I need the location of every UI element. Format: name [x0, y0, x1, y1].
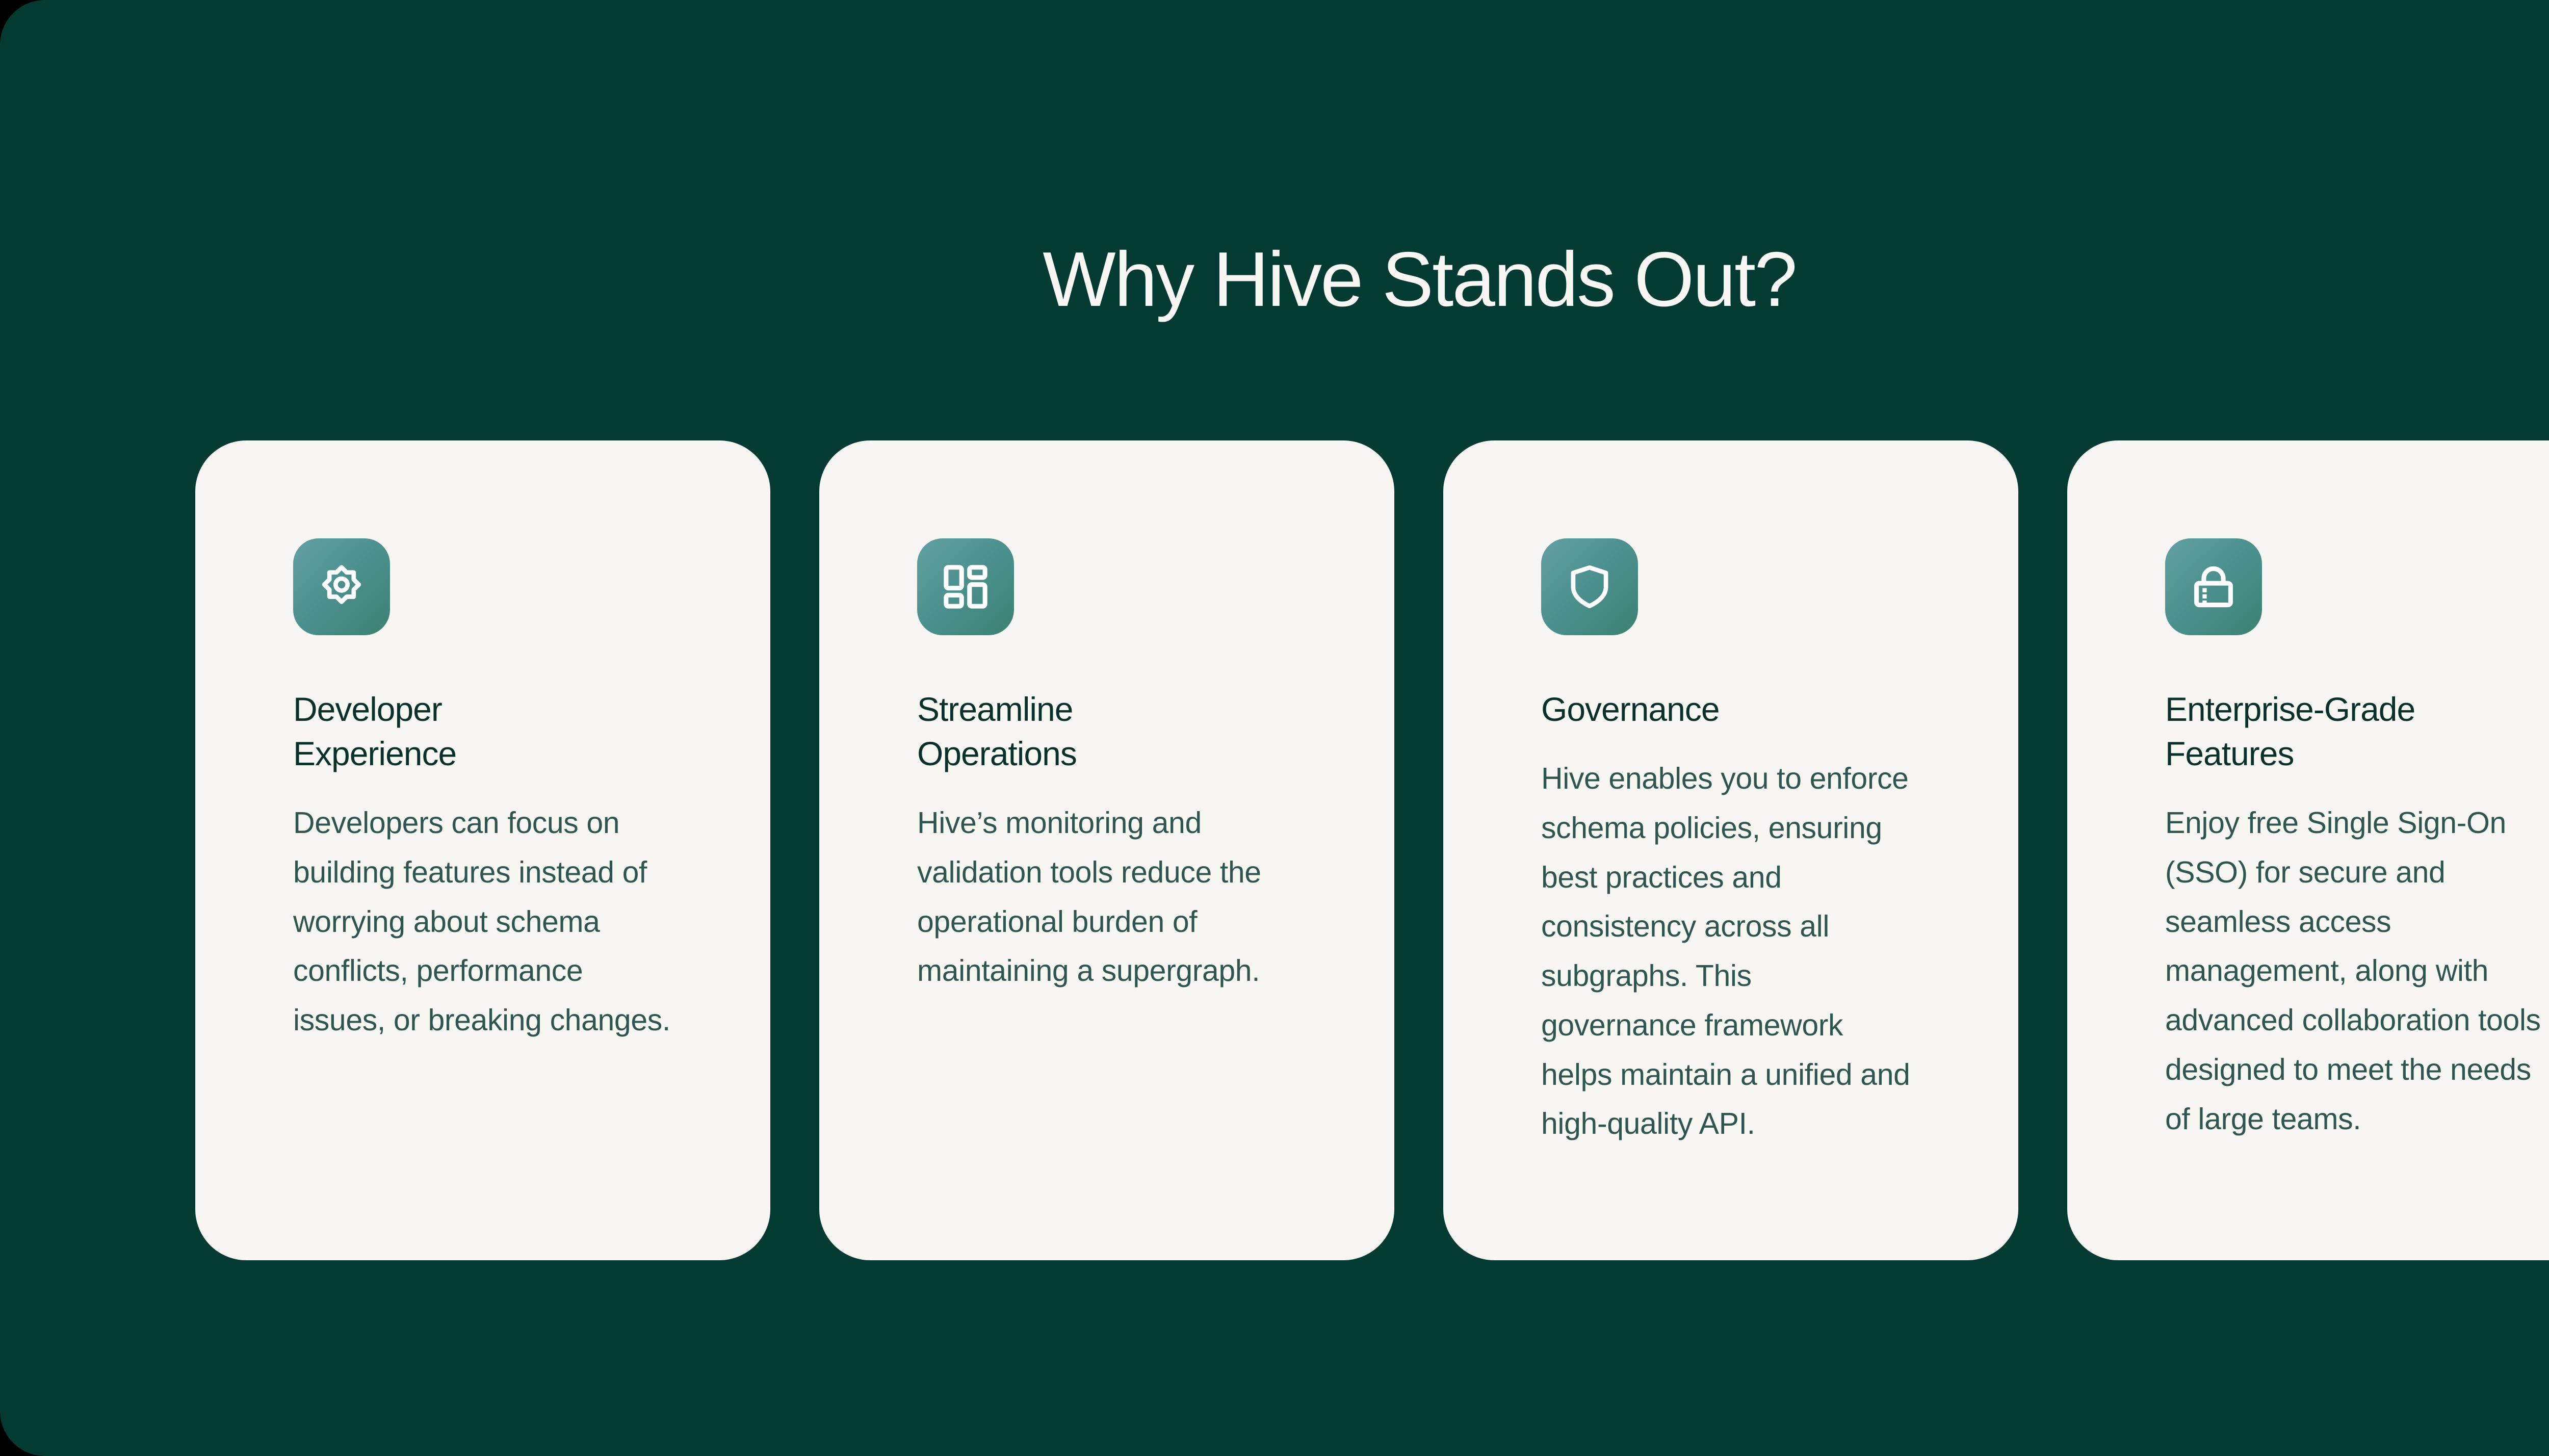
feature-card-developer-experience[interactable]: Developer Experience Developers can focu… [195, 440, 770, 1260]
feature-card-enterprise-grade-features[interactable]: Enterprise-Grade Features Enjoy free Sin… [2067, 440, 2549, 1260]
feature-card-heading: Enterprise-Grade Features [2165, 687, 2502, 776]
screenshot-stage: Why Hive Stands Out? Developer Experienc… [0, 0, 2549, 1456]
feature-card-body: Hive enables you to enforce schema polic… [1541, 754, 1913, 1149]
feature-card-list: Developer Experience Developers can focu… [195, 440, 2549, 1260]
gear-sun-icon [293, 538, 390, 635]
feature-card-streamline-operations[interactable]: Streamline Operations Hive’s monitoring … [819, 440, 1394, 1260]
lock-icon [2165, 538, 2262, 635]
feature-card-heading: Governance [1541, 687, 1720, 732]
feature-card-heading: Developer Experience [293, 687, 579, 776]
feature-card-body: Hive’s monitoring and validation tools r… [917, 798, 1294, 996]
shield-icon [1541, 538, 1638, 635]
feature-card-body: Enjoy free Single Sign-On (SSO) for secu… [2165, 798, 2542, 1143]
features-section: Why Hive Stands Out? Developer Experienc… [0, 0, 2549, 1456]
page-title: Why Hive Stands Out? [0, 241, 2549, 318]
feature-card-governance[interactable]: Governance Hive enables you to enforce s… [1443, 440, 2018, 1260]
feature-card-heading: Streamline Operations [917, 687, 1203, 776]
dashboard-layout-icon [917, 538, 1014, 635]
feature-card-body: Developers can focus on building feature… [293, 798, 670, 1045]
